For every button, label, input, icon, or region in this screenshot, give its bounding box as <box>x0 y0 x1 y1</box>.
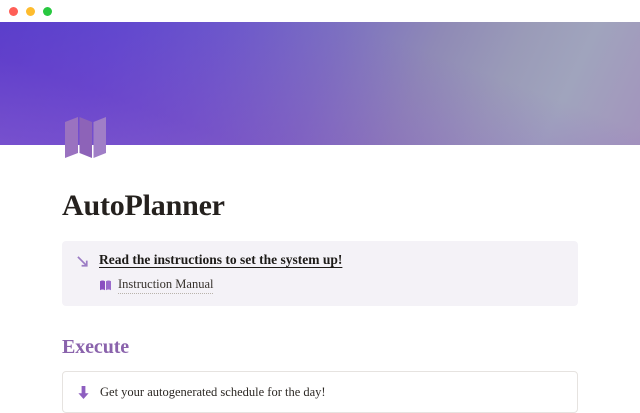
instruction-manual-link-row[interactable]: Instruction Manual <box>99 277 564 294</box>
execute-action-text: Get your autogenerated schedule for the … <box>100 384 326 400</box>
arrow-down-right-icon <box>76 254 90 270</box>
window-controls <box>9 7 52 16</box>
callout-main-row: Read the instructions to set the system … <box>76 252 564 270</box>
page-title: AutoPlanner <box>62 145 578 223</box>
execute-action-row: Get your autogenerated schedule for the … <box>77 384 563 400</box>
open-book-icon <box>99 279 112 292</box>
map-icon[interactable] <box>62 112 114 164</box>
window-title-bar <box>0 0 640 22</box>
page-content: AutoPlanner Read the instructions to set… <box>0 145 640 413</box>
execute-section-heading: Execute <box>62 306 578 359</box>
instruction-manual-link[interactable]: Instruction Manual <box>118 277 213 294</box>
callout-heading-text: Read the instructions to set the system … <box>99 252 342 269</box>
minimize-window-button[interactable] <box>26 7 35 16</box>
instructions-callout: Read the instructions to set the system … <box>62 241 578 306</box>
close-window-button[interactable] <box>9 7 18 16</box>
execute-action-block[interactable]: Get your autogenerated schedule for the … <box>62 371 578 413</box>
arrow-down-icon <box>77 385 90 400</box>
maximize-window-button[interactable] <box>43 7 52 16</box>
